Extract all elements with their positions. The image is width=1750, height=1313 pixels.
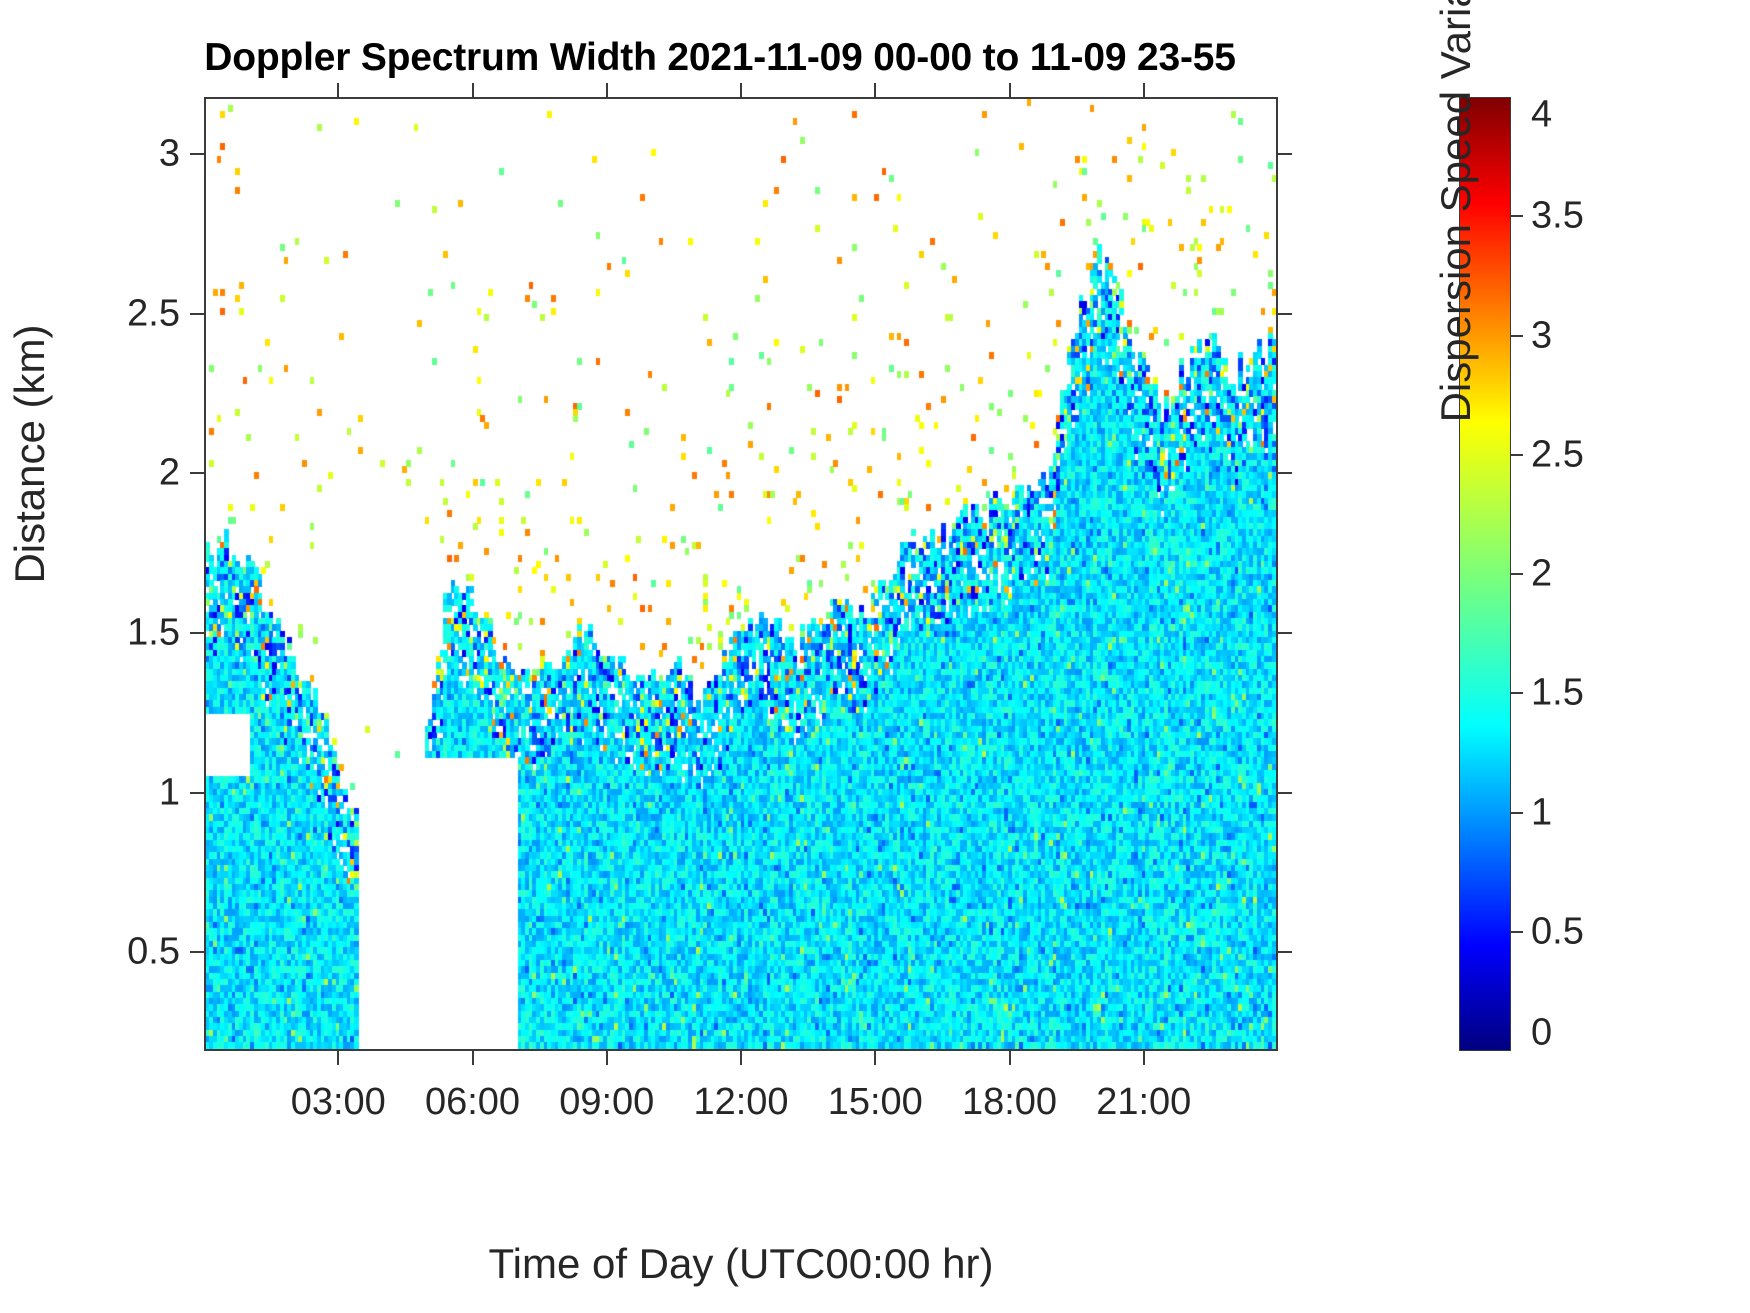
colorbar-tick-mark bbox=[1511, 692, 1523, 694]
y-tick-mark-right bbox=[1278, 792, 1292, 794]
y-axis-label: Distance (km) bbox=[6, 224, 54, 684]
colorbar-tick-label: 4 bbox=[1531, 94, 1552, 137]
y-tick-mark bbox=[190, 472, 204, 474]
x-tick-mark bbox=[1009, 1051, 1011, 1065]
y-tick-mark-right bbox=[1278, 153, 1292, 155]
colorbar-tick-label: 0 bbox=[1531, 1012, 1552, 1055]
y-tick-mark bbox=[190, 153, 204, 155]
page-title: Doppler Spectrum Width 2021-11-09 00-00 … bbox=[0, 36, 1440, 80]
colorbar-tick-mark bbox=[1511, 812, 1523, 814]
y-tick-mark bbox=[190, 792, 204, 794]
x-tick-mark bbox=[1143, 1051, 1145, 1065]
x-tick-mark-top bbox=[606, 83, 608, 97]
colorbar-tick-label: 3 bbox=[1531, 314, 1552, 357]
x-tick-mark-top bbox=[874, 83, 876, 97]
colorbar-tick-label: 3.5 bbox=[1531, 195, 1584, 238]
figure-canvas: Doppler Spectrum Width 2021-11-09 00-00 … bbox=[0, 0, 1750, 1313]
x-tick-mark bbox=[740, 1051, 742, 1065]
y-tick-label: 3 bbox=[159, 133, 180, 176]
x-tick-mark-top bbox=[740, 83, 742, 97]
y-tick-label: 2.5 bbox=[127, 292, 180, 335]
colorbar-label: Dispersion Speed Variance, m/s bbox=[1432, 0, 1480, 574]
colorbar-tick-label: 1 bbox=[1531, 791, 1552, 834]
y-tick-label: 1.5 bbox=[127, 612, 180, 655]
x-tick-label: 09:00 bbox=[559, 1081, 654, 1124]
y-tick-mark-right bbox=[1278, 472, 1292, 474]
x-tick-mark-top bbox=[472, 83, 474, 97]
heatmap-axes bbox=[204, 97, 1278, 1051]
colorbar-tick-mark bbox=[1511, 573, 1523, 575]
x-tick-mark bbox=[606, 1051, 608, 1065]
y-tick-label: 1 bbox=[159, 771, 180, 814]
y-tick-label: 2 bbox=[159, 452, 180, 495]
colorbar-tick-label: 2.5 bbox=[1531, 433, 1584, 476]
x-tick-mark bbox=[337, 1051, 339, 1065]
colorbar-tick-mark bbox=[1511, 931, 1523, 933]
colorbar-tick-mark bbox=[1511, 335, 1523, 337]
y-tick-mark bbox=[190, 632, 204, 634]
x-tick-label: 03:00 bbox=[291, 1081, 386, 1124]
x-tick-label: 21:00 bbox=[1096, 1081, 1191, 1124]
x-tick-mark bbox=[874, 1051, 876, 1065]
x-tick-mark bbox=[472, 1051, 474, 1065]
x-tick-mark-top bbox=[1143, 83, 1145, 97]
y-tick-mark-right bbox=[1278, 313, 1292, 315]
y-tick-mark-right bbox=[1278, 632, 1292, 634]
y-tick-mark bbox=[190, 313, 204, 315]
y-tick-label: 0.5 bbox=[127, 931, 180, 974]
x-tick-label: 12:00 bbox=[693, 1081, 788, 1124]
colorbar-tick-label: 2 bbox=[1531, 553, 1552, 596]
colorbar-tick-mark bbox=[1511, 454, 1523, 456]
y-tick-mark-right bbox=[1278, 951, 1292, 953]
heatmap-image bbox=[206, 99, 1276, 1049]
x-tick-mark-top bbox=[1009, 83, 1011, 97]
x-tick-label: 06:00 bbox=[425, 1081, 520, 1124]
x-tick-label: 15:00 bbox=[828, 1081, 923, 1124]
colorbar-tick-label: 0.5 bbox=[1531, 910, 1584, 953]
y-tick-mark bbox=[190, 951, 204, 953]
colorbar-tick-label: 1.5 bbox=[1531, 672, 1584, 715]
x-tick-mark-top bbox=[337, 83, 339, 97]
x-axis-label: Time of Day (UTC00:00 hr) bbox=[204, 1240, 1278, 1288]
x-tick-label: 18:00 bbox=[962, 1081, 1057, 1124]
colorbar-tick-mark bbox=[1511, 215, 1523, 217]
